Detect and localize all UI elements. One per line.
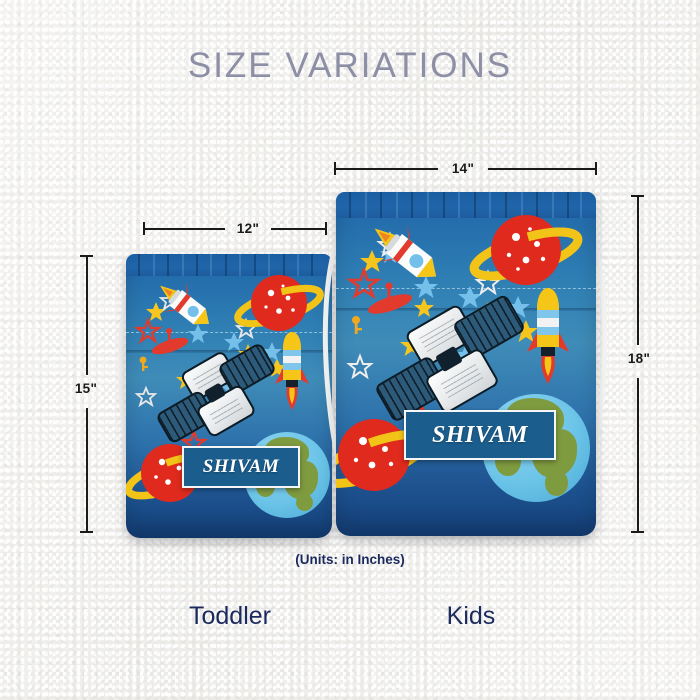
kids-height-label: 18" [614, 351, 664, 366]
bag-body-toddler: SHIVAM [126, 254, 332, 538]
product-bag-toddler[interactable]: SHIVAM [112, 240, 344, 540]
kids-width-cap-right [595, 162, 597, 175]
kids-height-cap-bottom [631, 531, 644, 533]
product-label-kids: Kids [396, 602, 546, 631]
product-bag-kids[interactable]: SHIVAM [316, 178, 616, 540]
page-title: SIZE VARIATIONS [0, 46, 700, 86]
name-plate-kids: SHIVAM [404, 410, 556, 460]
kids-width-line-left [334, 168, 438, 170]
toddler-width-line-left [143, 228, 225, 230]
name-text: SHIVAM [203, 456, 280, 478]
toddler-height-cap-bottom [80, 531, 93, 533]
toddler-width-label: 12" [225, 221, 271, 236]
kids-width-line-right [488, 168, 597, 170]
product-label-toddler: Toddler [140, 602, 320, 631]
bag-body-kids: SHIVAM [336, 192, 596, 536]
kids-height-line-top [637, 195, 639, 345]
toddler-height-label: 15" [63, 381, 109, 396]
toddler-height-line-top [86, 255, 88, 375]
kids-height-line-bottom [637, 378, 639, 532]
name-plate-toddler: SHIVAM [182, 446, 300, 488]
units-note: (Units: in Inches) [0, 552, 700, 567]
name-text: SHIVAM [432, 422, 528, 449]
kids-width-label: 14" [438, 161, 488, 176]
toddler-height-line-bottom [86, 408, 88, 532]
